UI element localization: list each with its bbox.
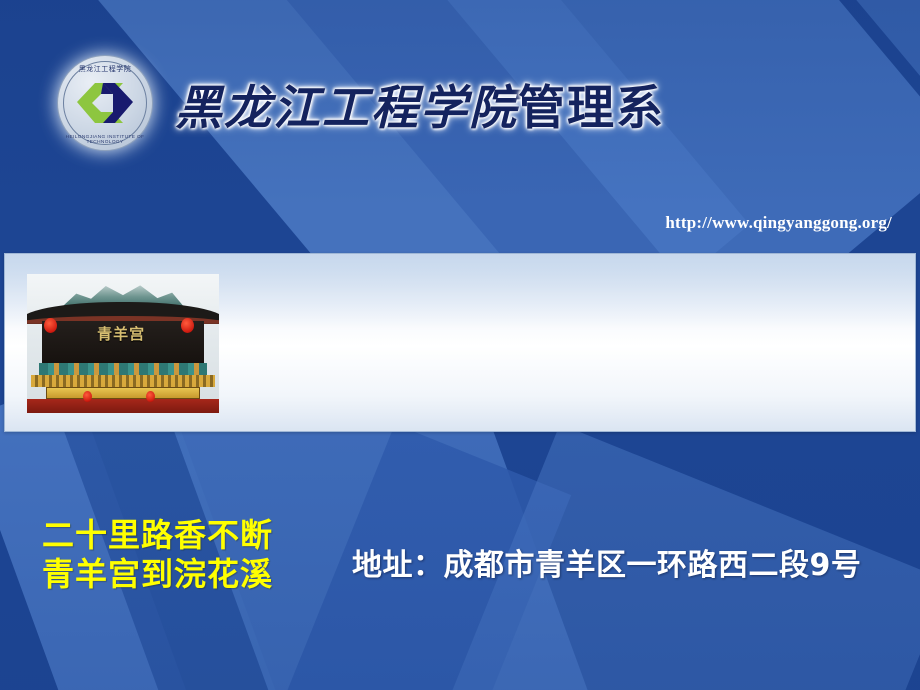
couplet-line-1: 二十里路香不断 [42,516,273,555]
couplet-line-2: 青羊宫到浣花溪 [42,555,273,594]
photo-lantern-right [181,318,194,333]
department-name-text: 管理系 [518,81,665,136]
presentation-slide: 黑龙江工程学院 HEILONGJIANG INSTITUTE OF TECHNO… [0,0,920,690]
source-url[interactable]: http://www.qingyanggong.org/ [665,213,892,233]
photo-red-base [27,399,219,413]
school-name-text: 黑龙江工程学院 [175,81,518,136]
logo-arrow-mark-icon [73,73,137,131]
slide-header: 黑龙江工程学院 HEILONGJIANG INSTITUTE OF TECHNO… [0,48,920,158]
poem-couplet: 二十里路香不断 青羊宫到浣花溪 [42,516,273,594]
temple-photo: 青羊宫 [27,274,219,413]
photo-eave-tiles [31,375,215,386]
title-banner: 青羊宫 成都青羊宫 [4,253,916,432]
logo-english-text: HEILONGJIANG INSTITUTE OF TECHNOLOGY [55,134,155,144]
photo-temple-sign: 青羊宫 [85,327,158,358]
photo-gold-banner [46,387,200,400]
school-department-title: 黑龙江工程学院管理系 [175,69,665,138]
photo-lantern-lower-right [146,391,155,402]
university-logo: 黑龙江工程学院 HEILONGJIANG INSTITUTE OF TECHNO… [57,55,153,151]
photo-lantern-lower-left [83,391,92,402]
address-line: 地址：成都市青羊区一环路西二段9号 [352,540,861,584]
